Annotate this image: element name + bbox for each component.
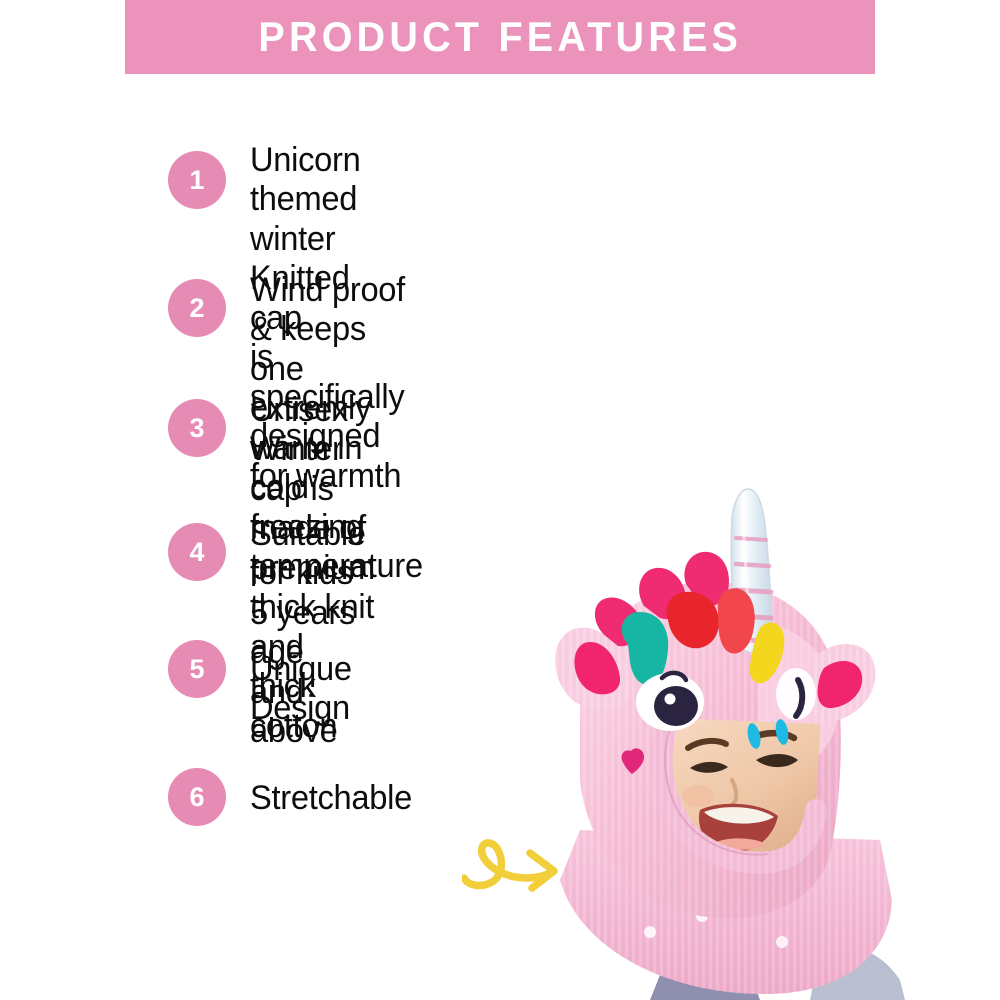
feature-number-badge-2: 2 — [168, 279, 226, 337]
feature-text-5: Unique Design — [250, 650, 352, 729]
hat-ear-right — [806, 644, 875, 722]
product-photo-unicorn-cap — [520, 480, 1000, 1000]
infographic-page: PRODUCT FEATURES 1 Unicorn themed winter… — [0, 0, 1000, 1000]
feature-number-badge-5: 5 — [168, 640, 226, 698]
feature-number-badge-6: 6 — [168, 768, 226, 826]
feature-text-6: Stretchable — [250, 779, 412, 818]
feature-number-badge-4: 4 — [168, 523, 226, 581]
feature-number-badge-1: 1 — [168, 151, 226, 209]
feature-number-badge-3: 3 — [168, 399, 226, 457]
